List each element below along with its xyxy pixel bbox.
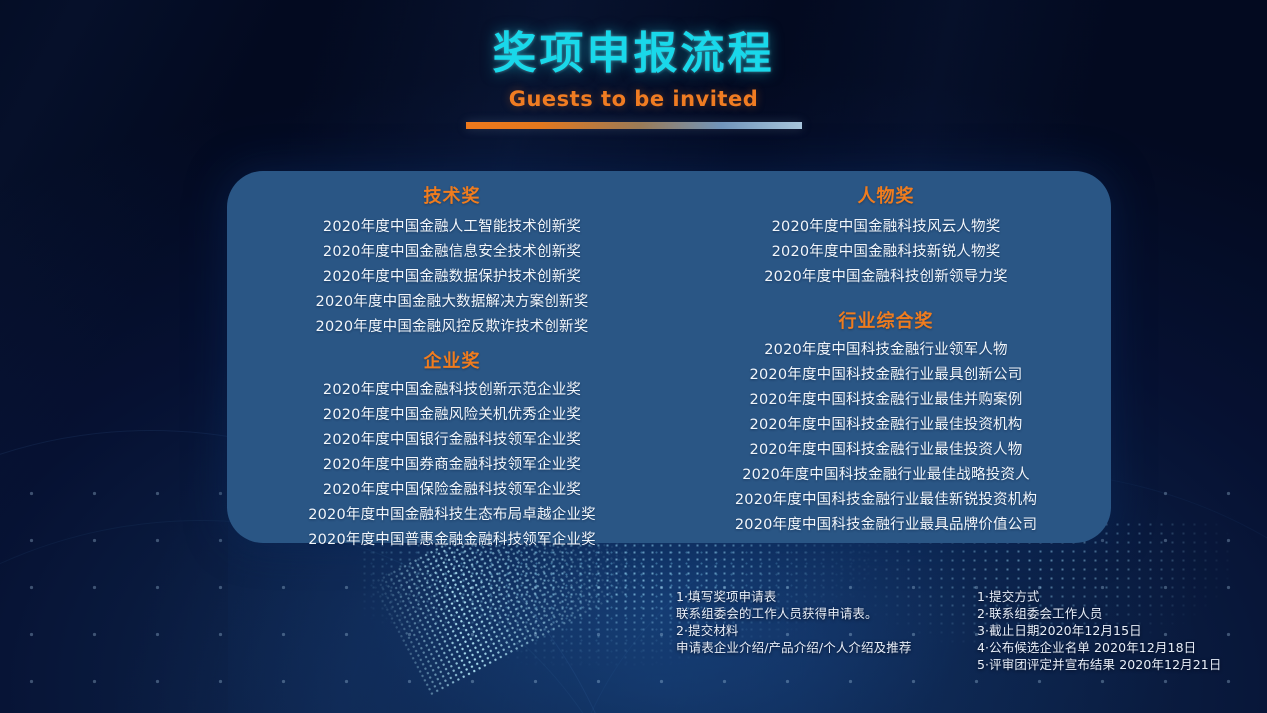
- award-item: 2020年度中国科技金融行业最佳新锐投资机构: [683, 488, 1089, 513]
- award-item: 2020年度中国科技金融行业最佳投资机构: [683, 413, 1089, 438]
- page-title: 奖项申报流程: [0, 26, 1267, 81]
- award-item: 2020年度中国金融科技创新示范企业奖: [249, 378, 655, 403]
- award-item: 2020年度中国科技金融行业最佳并购案例: [683, 388, 1089, 413]
- award-list-industry: 2020年度中国科技金融行业领军人物 2020年度中国科技金融行业最具创新公司 …: [683, 338, 1089, 538]
- footnote-line: 5·评审团评定并宣布结果 2020年12月21日: [977, 656, 1221, 673]
- footnote-line: 2·联系组委会工作人员: [977, 605, 1221, 622]
- footnote-line: 1·提交方式: [977, 588, 1221, 605]
- group-title-person: 人物奖: [683, 187, 1089, 207]
- footnote-line: 申请表企业介绍/产品介绍/个人介绍及推荐: [676, 639, 911, 656]
- awards-panel: 技术奖 2020年度中国金融人工智能技术创新奖 2020年度中国金融信息安全技术…: [227, 171, 1111, 543]
- footnote-application-steps: 1·填写奖项申请表 联系组委会的工作人员获得申请表。 2·提交材料 申请表企业介…: [676, 588, 911, 656]
- footnote-line: 2·提交材料: [676, 622, 911, 639]
- slide-root: 奖项申报流程 Guests to be invited 技术奖 2020年度中国…: [0, 0, 1267, 713]
- award-list-technology: 2020年度中国金融人工智能技术创新奖 2020年度中国金融信息安全技术创新奖 …: [249, 215, 655, 340]
- award-item: 2020年度中国金融风险关机优秀企业奖: [249, 403, 655, 428]
- award-list-person: 2020年度中国金融科技风云人物奖 2020年度中国金融科技新锐人物奖 2020…: [683, 215, 1089, 290]
- group-title-industry: 行业综合奖: [683, 312, 1089, 332]
- footnote-line: 联系组委会的工作人员获得申请表。: [676, 605, 911, 622]
- footnote-line: 4·公布候选企业名单 2020年12月18日: [977, 639, 1221, 656]
- award-item: 2020年度中国金融大数据解决方案创新奖: [249, 290, 655, 315]
- award-item: 2020年度中国科技金融行业最佳战略投资人: [683, 463, 1089, 488]
- slide-header: 奖项申报流程 Guests to be invited: [0, 26, 1267, 129]
- footnote-line: 3·截止日期2020年12月15日: [977, 622, 1221, 639]
- award-item: 2020年度中国科技金融行业领军人物: [683, 338, 1089, 363]
- award-item: 2020年度中国普惠金融金融科技领军企业奖: [249, 528, 655, 553]
- awards-column-left: 技术奖 2020年度中国金融人工智能技术创新奖 2020年度中国金融信息安全技术…: [227, 179, 669, 543]
- award-item: 2020年度中国券商金融科技领军企业奖: [249, 453, 655, 478]
- footnotes: 1·填写奖项申请表 联系组委会的工作人员获得申请表。 2·提交材料 申请表企业介…: [0, 588, 1267, 678]
- group-title-technology: 技术奖: [249, 187, 655, 207]
- award-item: 2020年度中国金融数据保护技术创新奖: [249, 265, 655, 290]
- award-item: 2020年度中国科技金融行业最具品牌价值公司: [683, 513, 1089, 538]
- award-item: 2020年度中国金融科技创新领导力奖: [683, 265, 1089, 290]
- award-item: 2020年度中国银行金融科技领军企业奖: [249, 428, 655, 453]
- award-item: 2020年度中国科技金融行业最佳投资人物: [683, 438, 1089, 463]
- award-item: 2020年度中国科技金融行业最具创新公司: [683, 363, 1089, 388]
- footnote-schedule: 1·提交方式 2·联系组委会工作人员 3·截止日期2020年12月15日 4·公…: [977, 588, 1221, 673]
- award-item: 2020年度中国金融信息安全技术创新奖: [249, 240, 655, 265]
- award-item: 2020年度中国金融人工智能技术创新奖: [249, 215, 655, 240]
- award-item: 2020年度中国金融风控反欺诈技术创新奖: [249, 315, 655, 340]
- footnote-line: 1·填写奖项申请表: [676, 588, 911, 605]
- page-subtitle: Guests to be invited: [0, 87, 1267, 111]
- award-item: 2020年度中国保险金融科技领军企业奖: [249, 478, 655, 503]
- award-list-enterprise: 2020年度中国金融科技创新示范企业奖 2020年度中国金融风险关机优秀企业奖 …: [249, 378, 655, 553]
- award-item: 2020年度中国金融科技风云人物奖: [683, 215, 1089, 240]
- group-title-enterprise: 企业奖: [249, 352, 655, 372]
- title-underline-bar: [466, 122, 802, 129]
- award-item: 2020年度中国金融科技新锐人物奖: [683, 240, 1089, 265]
- awards-column-right: 人物奖 2020年度中国金融科技风云人物奖 2020年度中国金融科技新锐人物奖 …: [669, 179, 1111, 543]
- award-item: 2020年度中国金融科技生态布局卓越企业奖: [249, 503, 655, 528]
